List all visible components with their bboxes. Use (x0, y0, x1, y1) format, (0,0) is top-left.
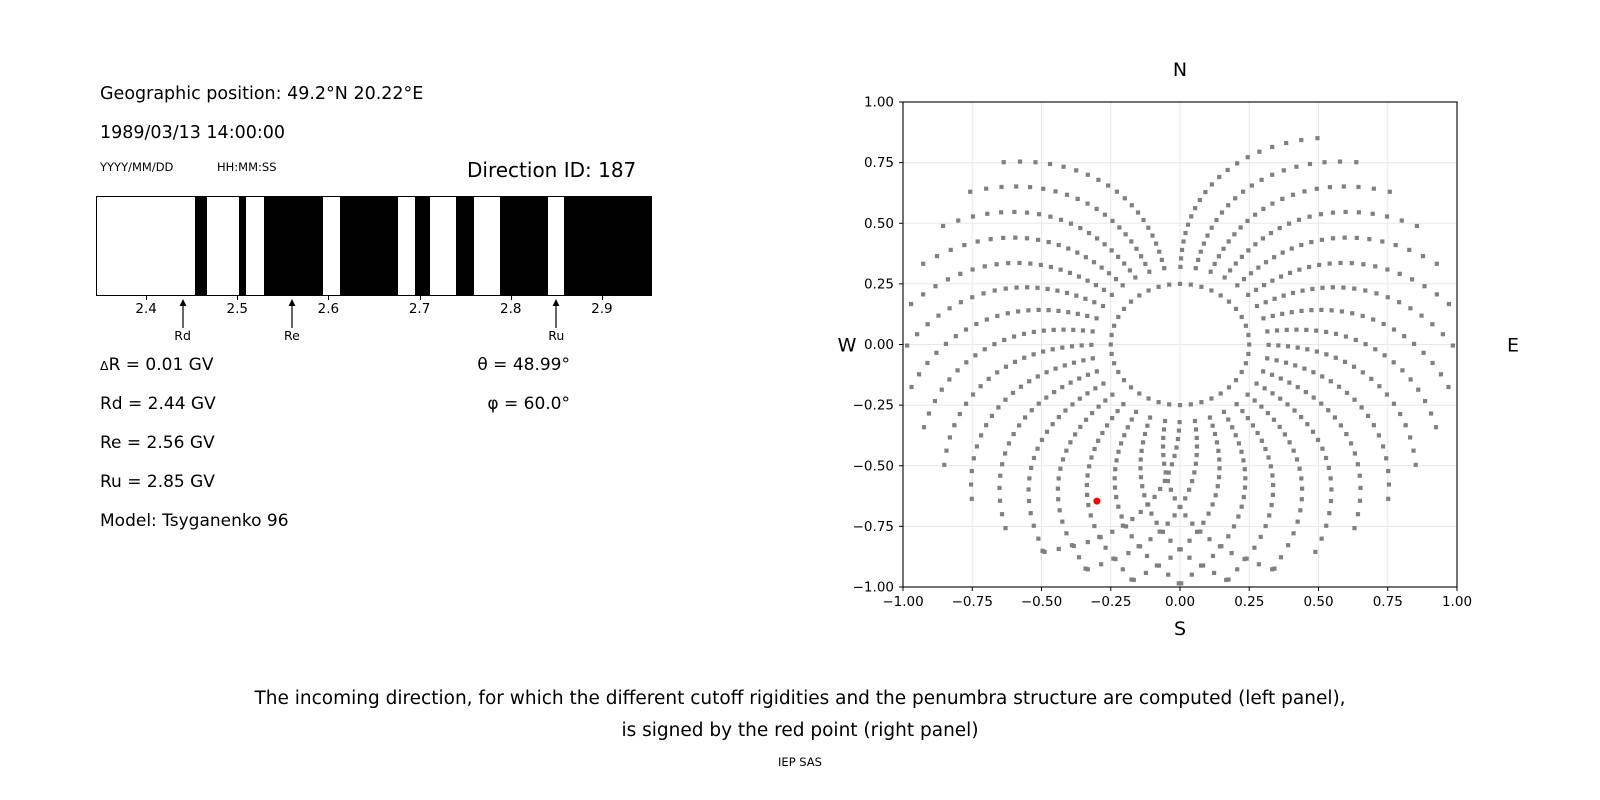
direction-point (1264, 300, 1268, 304)
direction-point (1423, 399, 1427, 403)
y-axis-tick-label: 0.50 (864, 216, 894, 232)
direction-point (1041, 349, 1045, 353)
direction-point (1167, 402, 1171, 406)
direction-point (948, 435, 952, 439)
direction-point (1259, 405, 1263, 409)
direction-point (1217, 475, 1221, 479)
direction-point (1430, 361, 1434, 365)
direction-point (1246, 248, 1250, 252)
direction-point (1019, 385, 1023, 389)
direction-point (1097, 535, 1101, 539)
direction-point (1076, 312, 1080, 316)
direction-point (1086, 373, 1090, 377)
direction-point (1264, 524, 1268, 528)
direction-point (1451, 343, 1455, 347)
direction-point (1139, 457, 1143, 461)
direction-point (1056, 309, 1060, 313)
direction-point (1343, 210, 1347, 214)
direction-point (1110, 333, 1114, 337)
direction-point (1091, 329, 1095, 333)
direction-point (1178, 265, 1182, 269)
direction-point (999, 185, 1003, 189)
direction-point (1070, 344, 1074, 348)
direction-point (1296, 385, 1300, 389)
direction-point (1344, 432, 1348, 436)
direction-point (1065, 193, 1069, 197)
direction-point (995, 370, 999, 374)
direction-point (1210, 182, 1214, 186)
direction-point (1250, 183, 1254, 187)
compass-label-west: W (838, 335, 857, 357)
direction-point (1092, 447, 1096, 451)
direction-point (1357, 210, 1361, 214)
direction-point (1134, 410, 1138, 414)
direction-point (1084, 255, 1088, 259)
direction-point (1409, 377, 1413, 381)
axis-tick-label: 2.5 (227, 301, 248, 317)
direction-point (1087, 231, 1091, 235)
direction-point (1266, 411, 1270, 415)
direction-point (1209, 270, 1213, 274)
direction-point (1069, 222, 1073, 226)
direction-point (1116, 505, 1120, 509)
direction-point (1069, 381, 1073, 385)
direction-point (1096, 405, 1100, 409)
direction-point (1386, 295, 1390, 299)
direction-point (1354, 338, 1358, 342)
direction-point (998, 474, 1002, 478)
direction-point (1186, 223, 1190, 227)
direction-point (1070, 543, 1074, 547)
direction-point (1270, 373, 1274, 377)
direction-point (1180, 248, 1184, 252)
direction-point (1267, 513, 1271, 517)
direction-point (1329, 308, 1333, 312)
direction-point (1032, 330, 1036, 334)
direction-point (1272, 418, 1276, 422)
direction-point (958, 272, 962, 276)
direction-point (1199, 250, 1203, 254)
direction-point (1219, 391, 1223, 395)
direction-point (1121, 283, 1125, 287)
direction-point (1102, 288, 1106, 292)
direction-point (1148, 537, 1152, 541)
axis-tick-label: 2.6 (318, 301, 339, 317)
direction-point (1207, 537, 1211, 541)
direction-point (1037, 402, 1041, 406)
direction-point (1309, 240, 1313, 244)
direction-point (1284, 361, 1288, 365)
direction-map-panel: −1.00−0.75−0.50−0.250.000.250.500.751.00… (780, 0, 1600, 660)
direction-point (1145, 502, 1149, 506)
direction-point (1221, 247, 1225, 251)
direction-point (990, 414, 994, 418)
direction-point (1276, 343, 1280, 347)
direction-point (942, 463, 946, 467)
y-axis-tick-label: −0.50 (853, 458, 894, 474)
direction-point (1141, 218, 1145, 222)
direction-point (1177, 547, 1181, 551)
direction-point (1107, 271, 1111, 275)
direction-point (1361, 314, 1365, 318)
direction-point (1211, 424, 1215, 428)
direction-point (1309, 308, 1313, 312)
direction-point (1078, 425, 1082, 429)
direction-point (1392, 327, 1396, 331)
direction-point (1106, 183, 1110, 187)
direction-point (1090, 411, 1094, 415)
direction-point (1085, 473, 1089, 477)
direction-point (1320, 286, 1324, 290)
direction-point (1205, 233, 1209, 237)
direction-point (1316, 438, 1320, 442)
direction-point (1000, 462, 1004, 466)
direction-point (1052, 328, 1056, 332)
direction-point (1331, 285, 1335, 289)
direction-point (1061, 165, 1065, 169)
direction-point (1004, 365, 1008, 369)
direction-point (1226, 534, 1230, 538)
direction-point (1121, 402, 1125, 406)
y-axis-tick-label: −0.25 (853, 398, 894, 414)
direction-point (1278, 397, 1282, 401)
direction-point (1210, 226, 1214, 230)
direction-point (1291, 193, 1295, 197)
direction-point (1036, 374, 1040, 378)
x-axis-tick-label: 0.00 (1165, 594, 1195, 610)
direction-point (1226, 577, 1230, 581)
direction-point (1275, 358, 1279, 362)
direction-point (1377, 433, 1381, 437)
direction-point (1307, 265, 1311, 269)
direction-point (1216, 484, 1220, 488)
direction-point (1387, 482, 1391, 486)
direction-point (1122, 378, 1126, 382)
direction-point (993, 288, 997, 292)
direction-point (1179, 581, 1183, 585)
direction-point (1246, 293, 1250, 297)
direction-point (969, 482, 973, 486)
direction-point (971, 392, 975, 396)
direction-point (1064, 531, 1068, 535)
direction-point (1324, 352, 1328, 356)
direction-point (946, 277, 950, 281)
direction-point (1232, 232, 1236, 236)
direction-point (1194, 462, 1198, 466)
direction-point (983, 264, 987, 268)
direction-point (1305, 347, 1309, 351)
direction-point (1408, 306, 1412, 310)
direction-point (1291, 291, 1295, 295)
direction-point (1369, 377, 1373, 381)
direction-point (1025, 285, 1029, 289)
direction-point (1270, 473, 1274, 477)
direction-point (1435, 292, 1439, 296)
direction-point (1233, 196, 1237, 200)
direction-point (1176, 437, 1180, 441)
direction-point (1058, 508, 1062, 512)
direction-point (1166, 522, 1170, 526)
direction-point (1334, 356, 1338, 360)
direction-point (1227, 385, 1231, 389)
penumbra-forbidden-band (195, 197, 207, 295)
direction-point (1074, 294, 1078, 298)
direction-point (1257, 150, 1261, 154)
direction-point (1112, 324, 1116, 328)
direction-point (1334, 332, 1338, 336)
direction-point (936, 314, 940, 318)
direction-point (1253, 213, 1257, 217)
direction-point (1110, 530, 1114, 534)
direction-point (1063, 363, 1067, 367)
direction-point (1086, 173, 1090, 177)
direction-point (1167, 283, 1171, 287)
direction-point (1065, 291, 1069, 295)
direction-point (1263, 447, 1267, 451)
direction-point (941, 224, 945, 228)
direction-point (1022, 356, 1026, 360)
selected-direction-point[interactable] (1093, 498, 1100, 505)
direction-point (1189, 214, 1193, 218)
direction-point (973, 353, 977, 357)
direction-point (1113, 485, 1117, 489)
direction-point (1092, 260, 1096, 264)
direction-point (1234, 307, 1238, 311)
direction-point (1166, 573, 1170, 577)
direction-point (1217, 175, 1221, 179)
direction-point (1385, 392, 1389, 396)
direction-point (971, 214, 975, 218)
direction-point (1398, 272, 1402, 276)
direction-point (1251, 423, 1255, 427)
direction-point (1331, 211, 1335, 215)
direction-point (1358, 486, 1362, 490)
direction-point (1059, 218, 1063, 222)
direction-point (947, 377, 951, 381)
direction-point (1284, 141, 1288, 145)
direction-point (1183, 496, 1187, 500)
direction-point (1331, 236, 1335, 240)
param-theta: θ = 48.99° (477, 355, 570, 375)
direction-point (1146, 226, 1150, 230)
compass-label-south: S (1174, 618, 1186, 640)
direction-point (1216, 449, 1220, 453)
direction-point (1194, 427, 1198, 431)
penumbra-forbidden-band (264, 197, 323, 295)
direction-point (1329, 499, 1333, 503)
direction-point (1035, 286, 1039, 290)
caption-line-1: The incoming direction, for which the di… (0, 683, 1600, 715)
x-axis-tick-label: −1.00 (882, 594, 923, 610)
direction-point (1066, 310, 1070, 314)
direction-point (1003, 398, 1007, 402)
direction-point (1199, 285, 1203, 289)
direction-point (1279, 274, 1283, 278)
direction-point (1214, 493, 1218, 497)
direction-point (1109, 342, 1113, 346)
direction-point (997, 486, 1001, 490)
direction-point (1302, 189, 1306, 193)
direction-point (1037, 308, 1041, 312)
direction-point (1261, 369, 1265, 373)
direction-point (1116, 315, 1120, 319)
direction-point (1143, 262, 1147, 266)
direction-point (1338, 159, 1342, 163)
direction-point (1292, 449, 1296, 453)
direction-point (1329, 379, 1333, 383)
direction-point (1324, 524, 1328, 528)
direction-point (1419, 314, 1423, 318)
direction-point (952, 423, 956, 427)
direction-point (1105, 423, 1109, 427)
direction-point (1045, 430, 1049, 434)
direction-point (1392, 360, 1396, 364)
direction-point (1367, 237, 1371, 241)
direction-point (1338, 261, 1342, 265)
direction-point (1122, 433, 1126, 437)
direction-point (1085, 493, 1089, 497)
direction-point (1310, 287, 1314, 291)
direction-point (1373, 264, 1377, 268)
direction-point (1372, 423, 1376, 427)
direction-point (1232, 524, 1236, 528)
direction-point (1203, 190, 1207, 194)
direction-point (1271, 314, 1275, 318)
direction-point (1026, 308, 1030, 312)
direction-point (1290, 310, 1294, 314)
direction-point (968, 190, 972, 194)
cutoff-marker-label-ru: Ru (548, 328, 564, 343)
direction-point (1385, 267, 1389, 271)
direction-point (1297, 218, 1301, 222)
date-format-hint: YYYY/MM/DD (100, 160, 173, 174)
direction-point (1075, 251, 1079, 255)
direction-point (1124, 524, 1128, 528)
direction-point (1394, 243, 1398, 247)
penumbra-forbidden-band (340, 197, 398, 295)
direction-point (1130, 534, 1134, 538)
direction-point (1299, 415, 1303, 419)
direction-point (1313, 550, 1317, 554)
direction-point (1096, 178, 1100, 182)
compass-label-north: N (1173, 59, 1187, 81)
direction-point (959, 300, 963, 304)
direction-point (1304, 328, 1308, 332)
direction-point (1080, 343, 1084, 347)
penumbra-rigidity-axis: 2.42.52.62.72.82.9RdReRu (96, 296, 652, 346)
direction-point (1004, 287, 1008, 291)
direction-point (1407, 248, 1411, 252)
direction-point (1255, 304, 1259, 308)
direction-point (1300, 487, 1304, 491)
direction-point (1077, 274, 1081, 278)
direction-point (1400, 368, 1404, 372)
direction-point (1110, 393, 1114, 397)
penumbra-forbidden-band (456, 197, 474, 295)
direction-point (1286, 344, 1290, 348)
direction-point (1166, 479, 1170, 483)
cutoff-marker-arrow-rd (178, 298, 188, 332)
direction-point (1052, 390, 1056, 394)
direction-point (1037, 212, 1041, 216)
direction-point (970, 295, 974, 299)
direction-point (1121, 567, 1125, 571)
direction-point (1161, 444, 1165, 448)
direction-point (925, 361, 929, 365)
direction-point (1217, 466, 1221, 470)
direction-point (1259, 535, 1263, 539)
x-axis-tick-label: −0.25 (1090, 594, 1131, 610)
direction-point (949, 248, 953, 252)
direction-point (1042, 329, 1046, 333)
direction-point (1085, 202, 1089, 206)
direction-point (1352, 365, 1356, 369)
direction-point (1040, 438, 1044, 442)
y-axis-tick-label: 0.75 (864, 155, 894, 171)
direction-point (1101, 382, 1105, 386)
param-delta-r: ΔR = 0.01 GV (100, 355, 213, 375)
direction-point (1281, 251, 1285, 255)
direction-point (1265, 356, 1269, 360)
x-axis-tick-label: 0.75 (1373, 594, 1403, 610)
direction-point (1086, 567, 1090, 571)
direction-point (1130, 517, 1134, 521)
direction-point (1077, 376, 1081, 380)
direction-point (1228, 268, 1232, 272)
direction-point (1199, 400, 1203, 404)
direction-point (1244, 324, 1248, 328)
direction-point (972, 456, 976, 460)
direction-point (976, 239, 980, 243)
direction-point (985, 317, 989, 321)
direction-point (1199, 564, 1203, 568)
direction-point (984, 423, 988, 427)
direction-point (1126, 551, 1130, 555)
direction-point (1168, 539, 1172, 543)
direction-point (1138, 466, 1142, 470)
direction-point (1397, 300, 1401, 304)
direction-point (1134, 247, 1138, 251)
direction-point (1300, 289, 1304, 293)
direction-point (984, 187, 988, 191)
axis-tick-mark (602, 296, 603, 300)
direction-point (1032, 524, 1036, 528)
direction-point (1150, 233, 1154, 237)
cutoff-marker-label-re: Re (284, 328, 300, 343)
direction-point (1119, 441, 1123, 445)
direction-point (1319, 402, 1323, 406)
direction-point (1264, 260, 1268, 264)
direction-point (1016, 309, 1020, 313)
direction-point (979, 433, 983, 437)
direction-point (1350, 311, 1354, 315)
direction-point (971, 267, 975, 271)
direction-point (1333, 415, 1337, 419)
direction-point (1359, 405, 1363, 409)
x-axis-tick-label: −0.75 (952, 594, 993, 610)
direction-point (1051, 347, 1055, 351)
direction-point (944, 342, 948, 346)
direction-point (1116, 450, 1120, 454)
direction-point (1282, 294, 1286, 298)
direction-point (1161, 436, 1165, 440)
direction-point (1356, 462, 1360, 466)
direction-point (1178, 505, 1182, 509)
direction-point (1234, 433, 1238, 437)
direction-point (1158, 487, 1162, 491)
direction-point (1243, 467, 1247, 471)
direction-point (1270, 145, 1274, 149)
